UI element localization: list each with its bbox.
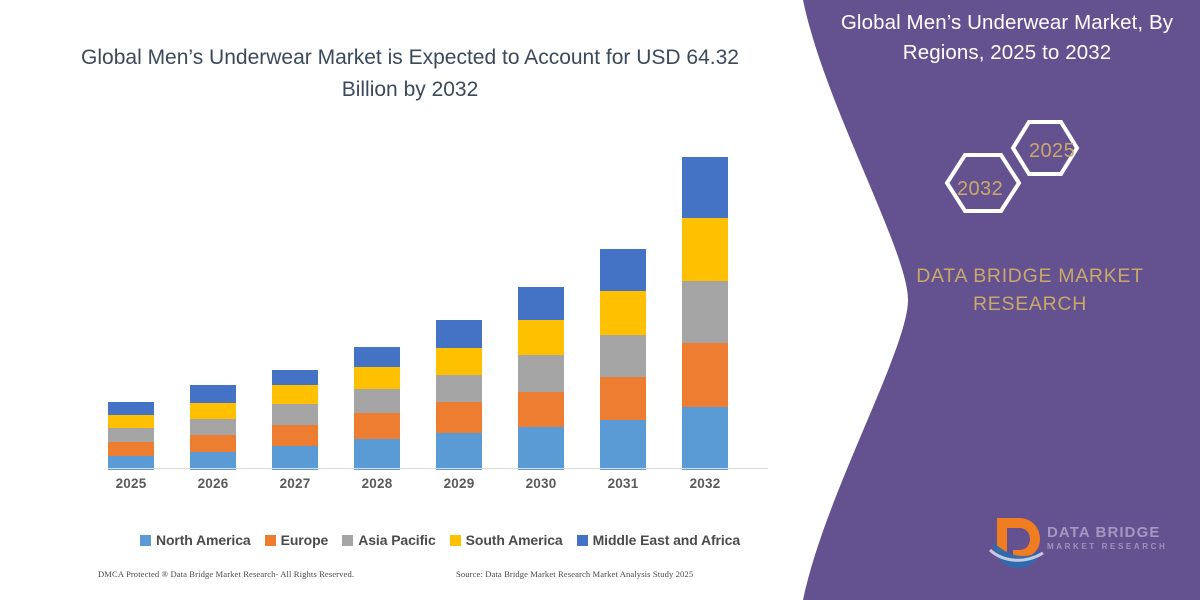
legend-item-asia-pacific[interactable]: Asia Pacific (342, 532, 435, 548)
legend-item-north-america[interactable]: North America (140, 532, 251, 548)
legend-swatch-icon (342, 535, 353, 546)
bar-segment-north-america (518, 427, 564, 470)
legend-swatch-icon (577, 535, 588, 546)
legend-label: North America (156, 532, 251, 548)
legend-label: Asia Pacific (358, 532, 435, 548)
bar-segment-middle-east-and-africa (436, 320, 482, 348)
bar-2029 (436, 320, 482, 470)
bar-2031 (600, 249, 646, 470)
bar-segment-middle-east-and-africa (354, 347, 400, 367)
copyright-notice: DMCA Protected ® Data Bridge Market Rese… (98, 569, 354, 579)
bar-segment-south-america (682, 218, 728, 281)
logo-line-1: DATA BRIDGE (1047, 524, 1187, 541)
bar-segment-north-america (682, 407, 728, 470)
bar-segment-south-america (518, 320, 564, 355)
logo-wordmark: DATA BRIDGE MARKET RESEARCH (1047, 524, 1187, 553)
bar-segment-europe (190, 435, 236, 452)
bar-2028 (354, 347, 400, 470)
bar-segment-asia-pacific (272, 404, 318, 425)
legend-label: Europe (281, 532, 329, 548)
bar-segment-south-america (108, 415, 154, 428)
x-tick-2026: 2026 (178, 476, 248, 491)
legend-label: South America (466, 532, 563, 548)
hexagon-outlines (925, 108, 1125, 238)
bar-segment-asia-pacific (108, 428, 154, 442)
brand-name: DATA BRIDGE MARKET RESEARCH (880, 262, 1180, 318)
legend-swatch-icon (265, 535, 276, 546)
bar-2027 (272, 370, 318, 470)
bar-segment-europe (108, 442, 154, 456)
hexagon-badge-2032: 2032 (957, 178, 1003, 201)
bar-segment-middle-east-and-africa (190, 385, 236, 403)
data-bridge-logo-icon (985, 512, 1047, 576)
logo-line-2: MARKET RESEARCH (1047, 541, 1187, 553)
bar-2030 (518, 287, 564, 470)
bar-segment-europe (600, 377, 646, 420)
bar-segment-asia-pacific (436, 375, 482, 402)
bar-2025 (108, 402, 154, 470)
bar-segment-south-america (436, 348, 482, 375)
x-tick-2030: 2030 (506, 476, 576, 491)
bar-segment-south-america (354, 367, 400, 389)
legend-item-europe[interactable]: Europe (265, 532, 329, 548)
bar-segment-north-america (436, 433, 482, 470)
bar-segment-europe (436, 402, 482, 433)
bar-segment-middle-east-and-africa (108, 402, 154, 415)
bar-segment-europe (682, 343, 728, 407)
source-notice: Source: Data Bridge Market Research Mark… (456, 569, 693, 579)
stacked-bar-chart (108, 140, 764, 470)
bar-segment-europe (272, 425, 318, 446)
x-tick-2028: 2028 (342, 476, 412, 491)
x-tick-2029: 2029 (424, 476, 494, 491)
bar-segment-asia-pacific (190, 419, 236, 435)
legend-label: Middle East and Africa (593, 532, 740, 548)
hexagon-badge-group: 2025 2032 (925, 108, 1125, 238)
hexagon-badge-2025: 2025 (1029, 140, 1075, 163)
infographic-root: Global Men’s Underwear Market, By Region… (0, 0, 1200, 600)
bar-segment-europe (354, 413, 400, 439)
bar-segment-asia-pacific (682, 281, 728, 343)
bar-2032 (682, 157, 728, 470)
bar-segment-south-america (190, 403, 236, 419)
x-tick-2032: 2032 (670, 476, 740, 491)
bar-segment-middle-east-and-africa (600, 249, 646, 291)
x-axis-line (108, 468, 768, 469)
x-tick-2025: 2025 (96, 476, 166, 491)
bar-segment-asia-pacific (518, 355, 564, 392)
bar-segment-asia-pacific (600, 335, 646, 377)
x-axis-tick-labels: 20252026202720282029203020312032 (108, 476, 768, 502)
bar-segment-europe (518, 392, 564, 427)
page-title: Global Men’s Underwear Market is Expecte… (60, 42, 760, 106)
x-tick-2031: 2031 (588, 476, 658, 491)
panel-title: Global Men’s Underwear Market, By Region… (826, 8, 1188, 68)
company-logo: DATA BRIDGE MARKET RESEARCH (985, 512, 1185, 582)
bar-segment-middle-east-and-africa (518, 287, 564, 320)
legend-swatch-icon (140, 535, 151, 546)
legend-swatch-icon (450, 535, 461, 546)
bar-segment-north-america (600, 420, 646, 470)
chart-legend: North AmericaEuropeAsia PacificSouth Ame… (110, 532, 770, 548)
bar-segment-asia-pacific (354, 389, 400, 413)
bar-segment-north-america (272, 446, 318, 470)
legend-item-south-america[interactable]: South America (450, 532, 563, 548)
legend-item-middle-east-and-africa[interactable]: Middle East and Africa (577, 532, 740, 548)
bar-segment-south-america (600, 291, 646, 335)
bar-segment-middle-east-and-africa (272, 370, 318, 385)
x-tick-2027: 2027 (260, 476, 330, 491)
bar-2026 (190, 385, 236, 470)
bar-segment-south-america (272, 385, 318, 404)
bar-segment-middle-east-and-africa (682, 157, 728, 218)
bar-segment-north-america (354, 439, 400, 470)
